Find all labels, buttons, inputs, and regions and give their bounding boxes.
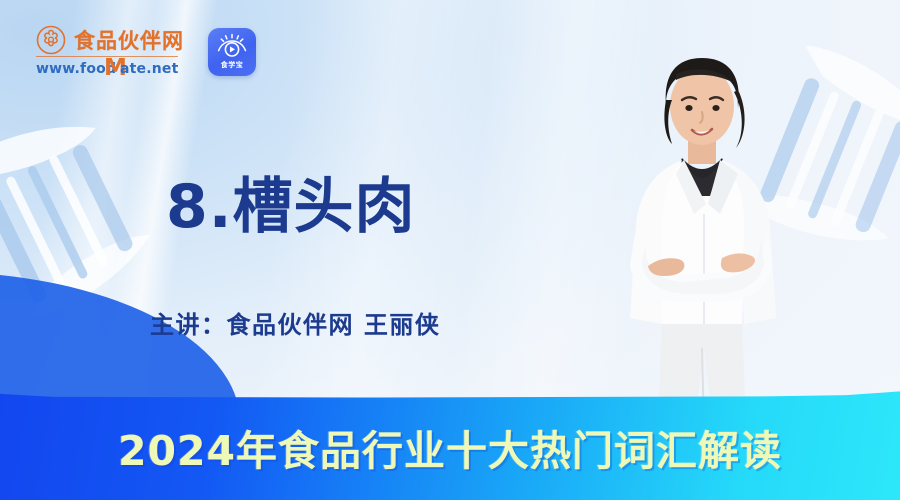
url-part-3: ate.net [120,61,179,77]
foodmate-cn-name: 食品伙伴网 [74,25,184,55]
app-icon-label: 食学宝 [221,60,244,70]
header-logo-row: 食品伙伴网 www.food M ate.net [36,25,256,78]
banner-title: 2024年食品行业十大热门词汇解读 [0,378,900,500]
presenter-photo [596,18,806,430]
shixuebao-app-icon[interactable]: 食学宝 [208,28,256,76]
flower-mark-icon [36,25,66,55]
foodmate-url: www.food M ate.net [36,58,178,78]
eye-play-icon [215,33,249,59]
presenter-subtitle: 主讲：食品伙伴网 王丽侠 [150,305,440,340]
bottom-banner: 2024年食品行业十大热门词汇解读 [0,378,900,500]
slide-canvas: 食品伙伴网 www.food M ate.net [0,0,900,500]
dna-decoration-left-icon [0,108,168,338]
foodmate-logo[interactable]: 食品伙伴网 www.food M ate.net [36,25,184,78]
page-title: 8.槽头肉 [166,176,416,239]
